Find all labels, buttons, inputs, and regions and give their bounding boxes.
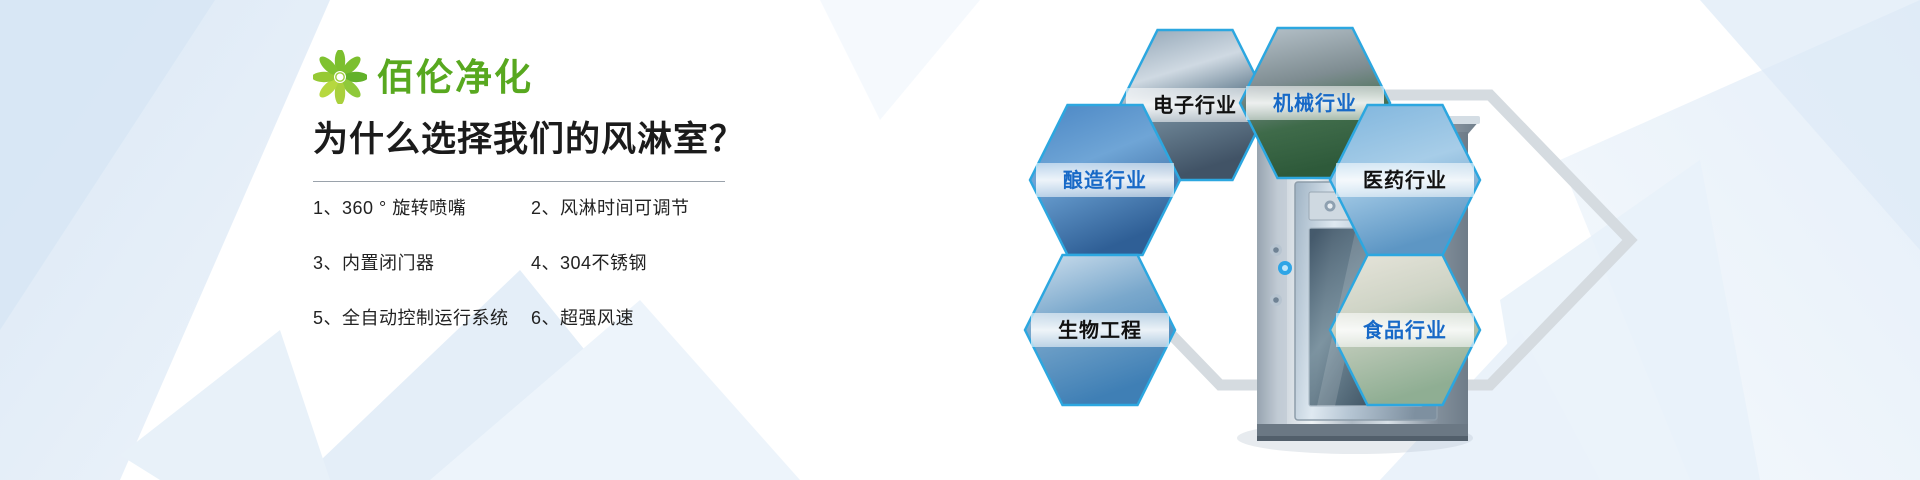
list-item: 3、内置闭门器: [313, 251, 531, 275]
list-item: 2、风淋时间可调节: [531, 196, 743, 220]
list-item: 4、304不锈钢: [531, 251, 743, 275]
page-title: 为什么选择我们的风淋室？: [313, 119, 745, 161]
brand-logo: 佰伦净化: [313, 50, 533, 104]
flower-icon: [313, 50, 367, 104]
hex-label-bioengineering: 生物工程: [1058, 318, 1142, 342]
left-content: 佰伦净化 为什么选择我们的风淋室？ 1、360 ° 旋转喷嘴 2、风淋时间可调节…: [0, 0, 800, 480]
list-item: 5、全自动控制运行系统: [313, 306, 531, 330]
title-divider: [313, 181, 725, 182]
industry-hex-diagram: 电子行业 机械行业 酿造行业: [790, 0, 1920, 480]
feature-list: 1、360 ° 旋转喷嘴 2、风淋时间可调节 3、内置闭门器 4、304不锈钢 …: [313, 196, 743, 330]
list-item: 1、360 ° 旋转喷嘴: [313, 196, 531, 220]
hex-label-pharma: 医药行业: [1363, 168, 1447, 192]
brand-name: 佰伦净化: [377, 59, 533, 96]
hex-label-brewing: 酿造行业: [1063, 168, 1147, 192]
promo-banner: 佰伦净化 为什么选择我们的风淋室？ 1、360 ° 旋转喷嘴 2、风淋时间可调节…: [0, 0, 1920, 480]
list-item: 6、超强风速: [531, 306, 743, 330]
hex-badge-bioengineering: 生物工程: [1025, 255, 1175, 405]
hex-label-electronics: 电子行业: [1153, 93, 1237, 117]
hex-label-machinery: 机械行业: [1273, 91, 1357, 115]
hex-label-food: 食品行业: [1363, 318, 1447, 342]
